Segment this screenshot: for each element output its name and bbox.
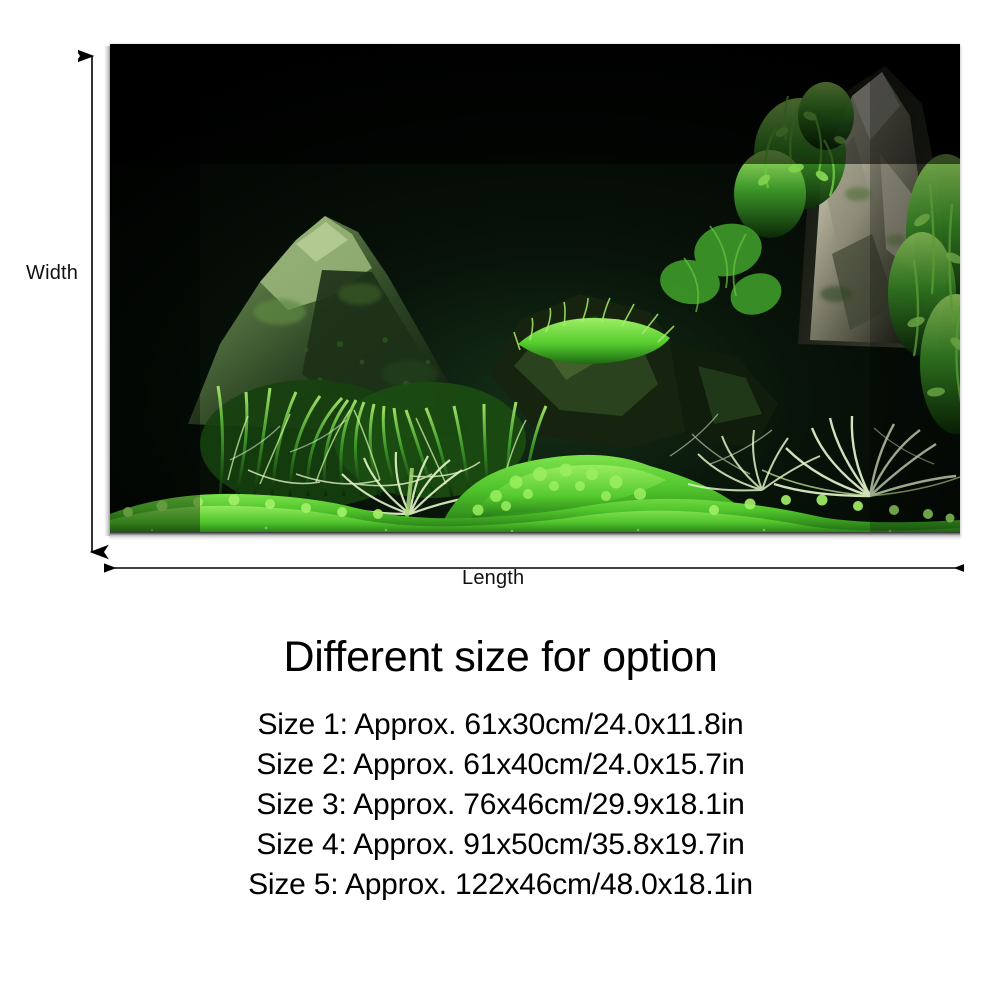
sizes-title: Different size for option [0,636,1001,679]
list-item: Size 5: Approx. 122x46cm/48.0x18.1in [0,865,1001,905]
list-item: Size 1: Approx. 61x30cm/24.0x11.8in [0,705,1001,745]
poster-bottom-edge [110,532,960,538]
sizes-section: Different size for option Size 1: Approx… [0,636,1001,904]
aquascape-photo [110,44,960,536]
length-dimension-arrow [104,548,964,588]
width-dimension-arrow [78,44,110,564]
list-item: Size 3: Approx. 76x46cm/29.9x18.1in [0,785,1001,825]
width-dimension-label: Width [26,262,78,285]
aquarium-poster [104,44,960,538]
list-item: Size 4: Approx. 91x50cm/35.8x19.7in [0,825,1001,865]
list-item: Size 2: Approx. 61x40cm/24.0x15.7in [0,745,1001,785]
sizes-list: Size 1: Approx. 61x30cm/24.0x11.8in Size… [0,705,1001,904]
